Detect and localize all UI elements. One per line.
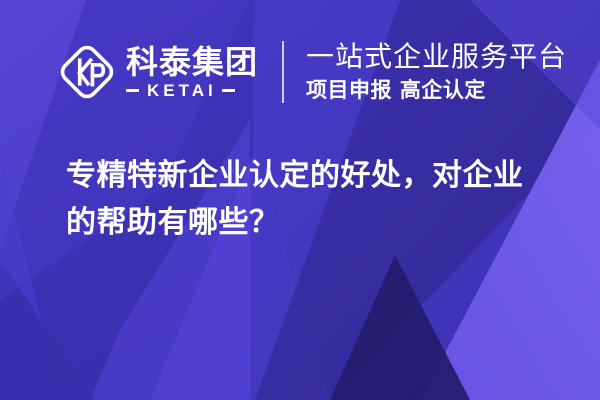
- banner-header: 科泰集团 KETAI 一站式企业服务平台 项目申报 高企认定: [58, 34, 567, 110]
- brand-name-cn: 科泰集团: [126, 45, 258, 79]
- brand-wordmark: 科泰集团 KETAI: [126, 45, 258, 99]
- dash-left-icon: [126, 89, 139, 92]
- headline-block: 专精特新企业认定的好处，对企业 的帮助有哪些？: [66, 152, 566, 246]
- dash-right-icon: [222, 89, 235, 92]
- brand-name-en: KETAI: [139, 82, 222, 99]
- ketai-diamond-kp-logo-icon: [58, 43, 116, 101]
- brand-logo[interactable]: 科泰集团 KETAI: [58, 43, 258, 101]
- promo-banner: 科泰集团 KETAI 一站式企业服务平台 项目申报 高企认定 专精特新企业认定的…: [0, 0, 600, 400]
- header-divider: [282, 41, 284, 103]
- tagline-primary: 一站式企业服务平台: [306, 40, 567, 74]
- tagline-secondary: 项目申报 高企认定: [306, 76, 567, 104]
- brand-name-en-row: KETAI: [126, 82, 258, 99]
- headline-line-1: 专精特新企业认定的好处，对企业: [66, 152, 566, 199]
- tagline-block: 一站式企业服务平台 项目申报 高企认定: [306, 40, 567, 104]
- headline-line-2: 的帮助有哪些？: [66, 199, 566, 246]
